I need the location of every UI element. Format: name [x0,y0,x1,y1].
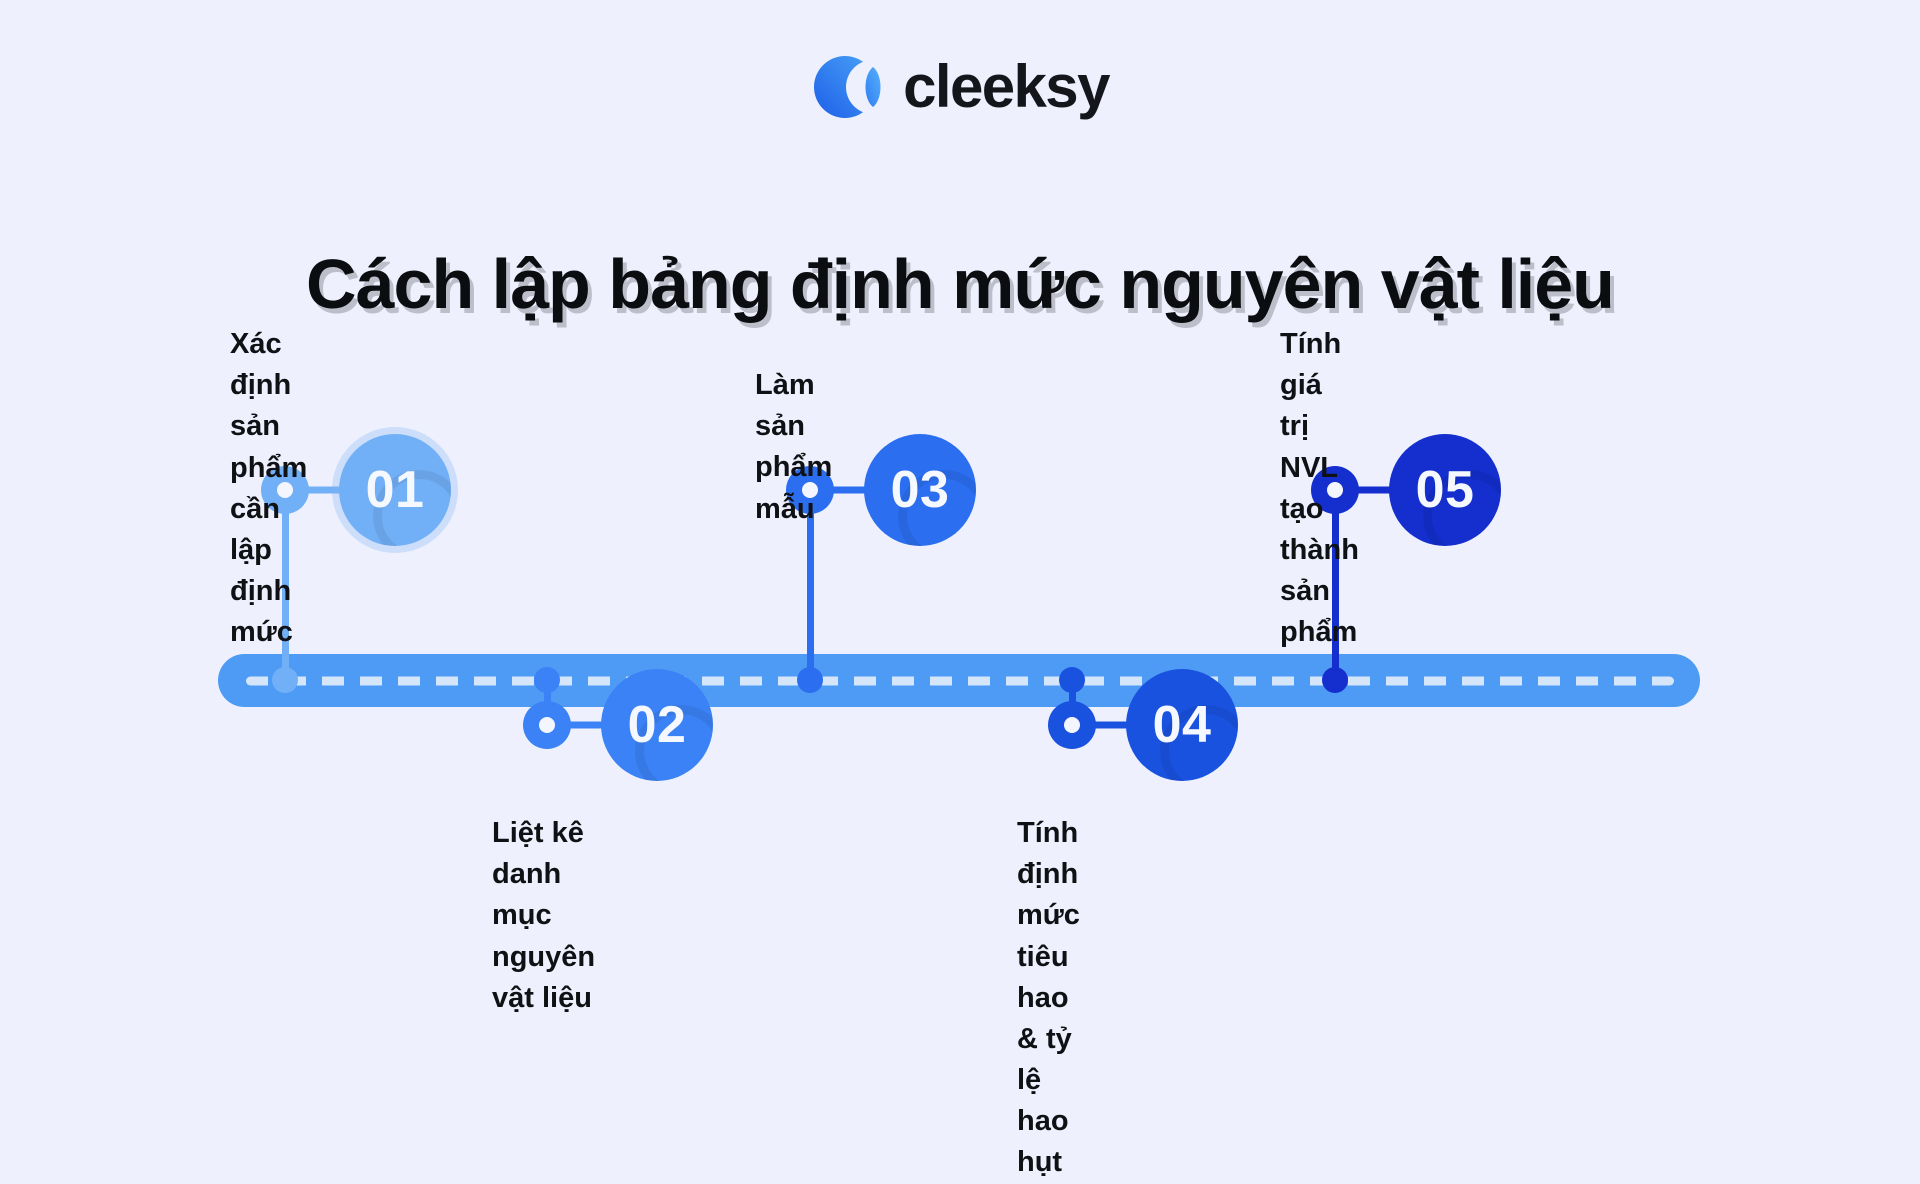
step-number-text: 05 [1416,464,1475,516]
step-label: Liệt kê danh mục nguyên vật liệu [492,813,595,1019]
timeline-dashed-line [246,676,1674,685]
step-label: Làm sản phẩm mẫu [755,365,832,530]
cleeksy-crescent-logo-icon [811,50,885,124]
step-label: Tính giá trị NVL tạo thành sản phẩm [1280,324,1359,653]
infographic-canvas: cleeksy Cách lập bảng định mức nguyên vậ… [0,0,1920,1080]
step-number-text: 04 [1153,699,1212,751]
process-timeline-bar [218,654,1700,707]
brand-name: cleeksy [903,57,1109,117]
timeline-rail-dot [534,667,560,693]
step-label: Tính định mức tiêu hao & tỷ lệ hao hụt [1017,813,1080,1184]
step-number-badge[interactable]: 05 [1389,434,1501,546]
timeline-rail-dot [1059,667,1085,693]
timeline-rail-dot [797,667,823,693]
timeline-rail-dot [272,667,298,693]
step-number-badge[interactable]: 02 [601,669,713,781]
step-number-text: 02 [628,699,687,751]
step-number-text: 03 [891,464,950,516]
timeline-rail-dot [1322,667,1348,693]
page-title: Cách lập bảng định mức nguyên vật liệu [0,245,1920,323]
step-number-badge[interactable]: 04 [1126,669,1238,781]
step-ring-core [539,717,555,733]
step-ring-core [1064,717,1080,733]
step-ring-marker [523,701,571,749]
brand-lockup: cleeksy [0,50,1920,124]
step-label: Xác định sản phẩm cần lập định mức [230,324,307,653]
step-number-badge[interactable]: 01 [339,434,451,546]
step-number-badge[interactable]: 03 [864,434,976,546]
step-number-text: 01 [366,464,425,516]
step-ring-marker [1048,701,1096,749]
